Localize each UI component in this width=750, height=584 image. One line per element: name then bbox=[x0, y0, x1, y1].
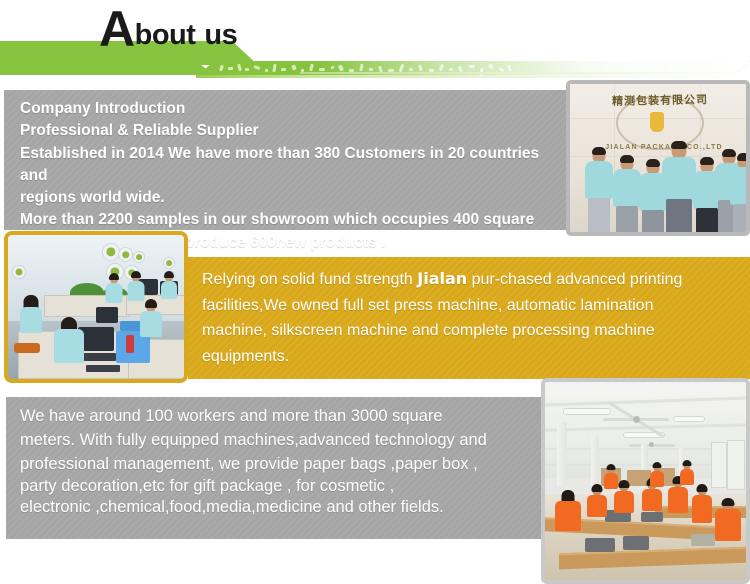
printing-line-1-post: pur-chased advanced printing bbox=[467, 271, 682, 288]
workforce-panel: We have around 100 workers and more than… bbox=[6, 397, 552, 539]
company-introduction-panel: Company Introduction Professional & Reli… bbox=[4, 90, 570, 230]
page-title: Aboutus bbox=[99, 4, 237, 54]
header-rule bbox=[196, 75, 750, 78]
office-worker bbox=[160, 273, 178, 299]
factory-worker bbox=[715, 500, 741, 548]
page-title-rest2: us bbox=[204, 19, 237, 51]
workforce-line: party decoration,etc for gift package , … bbox=[20, 476, 548, 497]
team-member bbox=[584, 148, 614, 236]
factory-worker bbox=[585, 486, 609, 526]
intro-line: Professional & Reliable Supplier bbox=[20, 120, 565, 142]
printing-line-1-pre: Relying on solid fund strength bbox=[202, 271, 417, 288]
page-title-rest: bout bbox=[135, 19, 196, 51]
team-member-center bbox=[662, 142, 696, 236]
workforce-line: electronic ,chemical,food,media,medicine… bbox=[20, 497, 548, 518]
workforce-line: We have around 100 workers and more than… bbox=[20, 404, 548, 428]
factory-worker bbox=[555, 492, 581, 536]
factory-worker bbox=[603, 466, 619, 492]
factory-worker bbox=[649, 464, 665, 490]
workforce-line: professional management, we provide pape… bbox=[20, 452, 548, 476]
company-logo-mark bbox=[650, 112, 664, 132]
intro-line: Established in 2014 We have more than 38… bbox=[20, 143, 565, 188]
office-worker bbox=[54, 319, 84, 367]
team-photo: 精测包装有限公司 JIALAN PACKAGE CO.,LTD bbox=[566, 80, 750, 236]
page-title-initial: A bbox=[99, 1, 135, 57]
company-name-chinese: 精测包装有限公司 bbox=[610, 91, 710, 109]
printing-line: equipments. bbox=[202, 344, 742, 370]
intro-line: regions world wide. bbox=[20, 187, 565, 209]
intro-line: More than 2200 samples in our showroom w… bbox=[20, 209, 565, 231]
workforce-text: We have around 100 workers and more than… bbox=[20, 404, 548, 518]
brand-name: Jialan bbox=[417, 269, 467, 288]
page-header: Aboutus bbox=[0, 0, 750, 88]
printing-line: machine, silkscreen machine and complete… bbox=[202, 318, 742, 344]
printing-facilities-text: Relying on solid fund strength Jialan pu… bbox=[202, 266, 742, 369]
office-worker bbox=[18, 297, 44, 337]
about-us-page: Aboutus Company Introduction Professiona… bbox=[0, 0, 750, 584]
team-member bbox=[730, 154, 750, 236]
factory-worker bbox=[679, 462, 695, 488]
office-worker bbox=[104, 275, 124, 305]
factory-photo bbox=[541, 378, 750, 584]
office-worker bbox=[126, 273, 146, 301]
workforce-line: meters. With fully equipped machines,adv… bbox=[20, 428, 548, 452]
office-worker bbox=[138, 301, 164, 341]
intro-line: Company Introduction bbox=[20, 98, 565, 120]
office-photo bbox=[4, 231, 188, 383]
printing-facilities-panel: Relying on solid fund strength Jialan pu… bbox=[188, 257, 750, 379]
header-rule-upper bbox=[300, 72, 750, 74]
printing-line: facilities,We owned full set press machi… bbox=[202, 293, 742, 319]
factory-worker bbox=[691, 486, 713, 528]
